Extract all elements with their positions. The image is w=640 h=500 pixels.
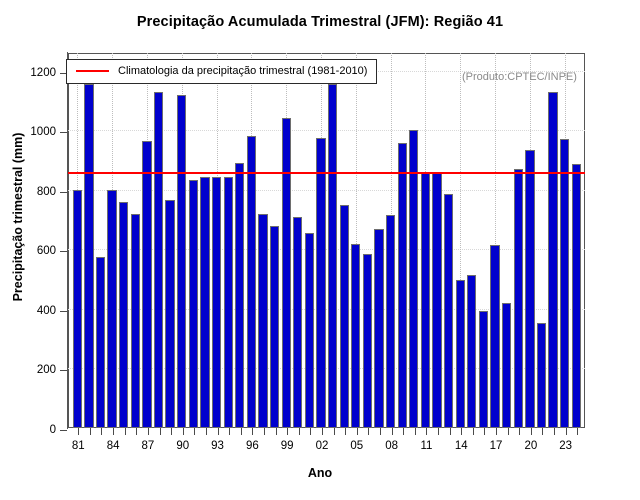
x-tick-label: 99 xyxy=(281,440,294,452)
x-tick-mark xyxy=(426,428,427,435)
y-tick-label: 200 xyxy=(37,364,56,376)
x-tick-mark xyxy=(264,428,265,435)
y-tick-mark xyxy=(60,251,67,252)
x-tick-mark xyxy=(218,428,219,435)
x-tick-mark xyxy=(403,428,404,435)
y-tick-label: 1000 xyxy=(30,126,56,138)
x-tick-label: 90 xyxy=(176,440,189,452)
y-tick-mark xyxy=(60,192,67,193)
x-tick-label: 84 xyxy=(107,440,120,452)
x-tick-label: 96 xyxy=(246,440,259,452)
x-tick-mark xyxy=(531,428,532,435)
x-tick-mark xyxy=(276,428,277,435)
legend-line-swatch xyxy=(76,70,109,72)
x-tick-label: 11 xyxy=(420,440,432,452)
x-tick-label: 08 xyxy=(385,440,398,452)
x-tick-mark xyxy=(241,428,242,435)
x-tick-mark xyxy=(392,428,393,435)
y-tick-label: 0 xyxy=(50,424,56,436)
x-tick-mark xyxy=(113,428,114,435)
x-tick-mark xyxy=(508,428,509,435)
x-tick-mark xyxy=(78,428,79,435)
producer-credit: (Produto:CPTEC/INPE) xyxy=(462,71,577,83)
x-tick-mark xyxy=(252,428,253,435)
x-tick-mark xyxy=(229,428,230,435)
legend-entry-label: Climatologia da precipitação trimestral … xyxy=(118,65,367,77)
legend: Climatologia da precipitação trimestral … xyxy=(66,59,377,84)
x-tick-mark xyxy=(484,428,485,435)
x-tick-mark xyxy=(357,428,358,435)
x-tick-mark xyxy=(160,428,161,435)
y-tick-label: 800 xyxy=(37,186,56,198)
x-tick-label: 02 xyxy=(316,440,329,452)
x-tick-mark xyxy=(368,428,369,435)
x-tick-mark xyxy=(136,428,137,435)
chart-root: Precipitação Acumulada Trimestral (JFM):… xyxy=(0,0,640,500)
y-tick-mark xyxy=(60,132,67,133)
x-tick-mark xyxy=(299,428,300,435)
x-tick-mark xyxy=(310,428,311,435)
x-tick-mark xyxy=(334,428,335,435)
x-tick-mark xyxy=(554,428,555,435)
y-tick-mark xyxy=(60,311,67,312)
x-tick-mark xyxy=(450,428,451,435)
x-tick-mark xyxy=(171,428,172,435)
x-tick-mark xyxy=(194,428,195,435)
x-tick-label: 87 xyxy=(142,440,155,452)
x-tick-mark xyxy=(345,428,346,435)
y-tick-mark xyxy=(60,370,67,371)
x-tick-mark xyxy=(90,428,91,435)
x-tick-label: 93 xyxy=(211,440,224,452)
x-tick-mark xyxy=(101,428,102,435)
x-axis-title: Ano xyxy=(0,466,640,480)
x-tick-label: 81 xyxy=(72,440,85,452)
x-tick-mark xyxy=(380,428,381,435)
x-tick-mark xyxy=(473,428,474,435)
x-tick-mark xyxy=(519,428,520,435)
x-tick-mark xyxy=(206,428,207,435)
x-tick-mark xyxy=(542,428,543,435)
x-tick-label: 05 xyxy=(350,440,363,452)
x-tick-mark xyxy=(566,428,567,435)
x-tick-mark xyxy=(496,428,497,435)
y-tick-label: 400 xyxy=(37,305,56,317)
y-axis-title: Precipitação trimestral (mm) xyxy=(11,37,25,397)
x-tick-mark xyxy=(148,428,149,435)
x-tick-mark xyxy=(287,428,288,435)
climatology-reference-line xyxy=(68,53,585,428)
plot-area xyxy=(68,53,585,428)
x-tick-label: 23 xyxy=(559,440,572,452)
x-tick-mark xyxy=(183,428,184,435)
y-tick-mark xyxy=(60,430,67,431)
x-tick-mark xyxy=(322,428,323,435)
x-tick-mark xyxy=(415,428,416,435)
y-tick-label: 600 xyxy=(37,245,56,257)
x-tick-mark xyxy=(125,428,126,435)
x-tick-mark xyxy=(577,428,578,435)
x-tick-label: 14 xyxy=(455,440,468,452)
x-tick-label: 17 xyxy=(490,440,503,452)
x-axis: 818487909396990205081114172023 xyxy=(68,428,587,468)
y-tick-label: 1200 xyxy=(30,67,56,79)
x-tick-mark xyxy=(461,428,462,435)
x-tick-mark xyxy=(438,428,439,435)
x-tick-label: 20 xyxy=(524,440,537,452)
climatology-line-stroke xyxy=(68,172,585,174)
chart-title: Precipitação Acumulada Trimestral (JFM):… xyxy=(0,14,640,30)
